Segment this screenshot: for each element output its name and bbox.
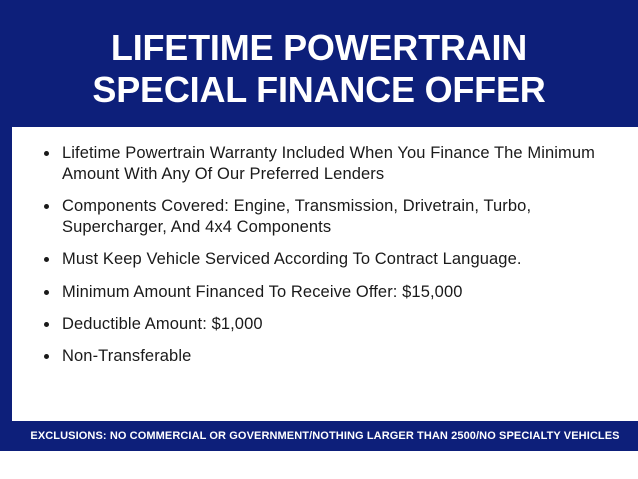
bullet-dot-icon bbox=[44, 151, 49, 156]
list-item-text: Lifetime Powertrain Warranty Included Wh… bbox=[62, 144, 595, 183]
list-item: Non-Transferable bbox=[26, 346, 628, 367]
bottom-margin bbox=[0, 451, 638, 479]
list-item-text: Minimum Amount Financed To Receive Offer… bbox=[62, 283, 463, 301]
bullet-dot-icon bbox=[44, 204, 49, 209]
list-item-text: Deductible Amount: $1,000 bbox=[62, 315, 263, 333]
slide-header: LIFETIME POWERTRAIN SPECIAL FINANCE OFFE… bbox=[0, 0, 638, 127]
bullet-dot-icon bbox=[44, 290, 49, 295]
slide-footer: EXCLUSIONS: NO COMMERCIAL OR GOVERNMENT/… bbox=[12, 421, 638, 451]
slide: LIFETIME POWERTRAIN SPECIAL FINANCE OFFE… bbox=[0, 0, 638, 479]
bullet-dot-icon bbox=[44, 257, 49, 262]
title-line-1: LIFETIME POWERTRAIN bbox=[111, 27, 527, 68]
slide-body: Lifetime Powertrain Warranty Included Wh… bbox=[12, 127, 638, 433]
list-item-text: Must Keep Vehicle Serviced According To … bbox=[62, 250, 522, 268]
list-item: Lifetime Powertrain Warranty Included Wh… bbox=[26, 143, 628, 185]
footer-exclusions-text: EXCLUSIONS: NO COMMERCIAL OR GOVERNMENT/… bbox=[30, 430, 619, 442]
bullet-list: Lifetime Powertrain Warranty Included Wh… bbox=[26, 143, 628, 367]
list-item: Components Covered: Engine, Transmission… bbox=[26, 196, 628, 238]
list-item-text: Non-Transferable bbox=[62, 347, 191, 365]
bullet-dot-icon bbox=[44, 322, 49, 327]
title-line-2: SPECIAL FINANCE OFFER bbox=[92, 69, 545, 110]
list-item: Minimum Amount Financed To Receive Offer… bbox=[26, 282, 628, 303]
list-item-text: Components Covered: Engine, Transmission… bbox=[62, 197, 531, 236]
list-item: Must Keep Vehicle Serviced According To … bbox=[26, 249, 628, 270]
list-item: Deductible Amount: $1,000 bbox=[26, 314, 628, 335]
bullet-dot-icon bbox=[44, 354, 49, 359]
